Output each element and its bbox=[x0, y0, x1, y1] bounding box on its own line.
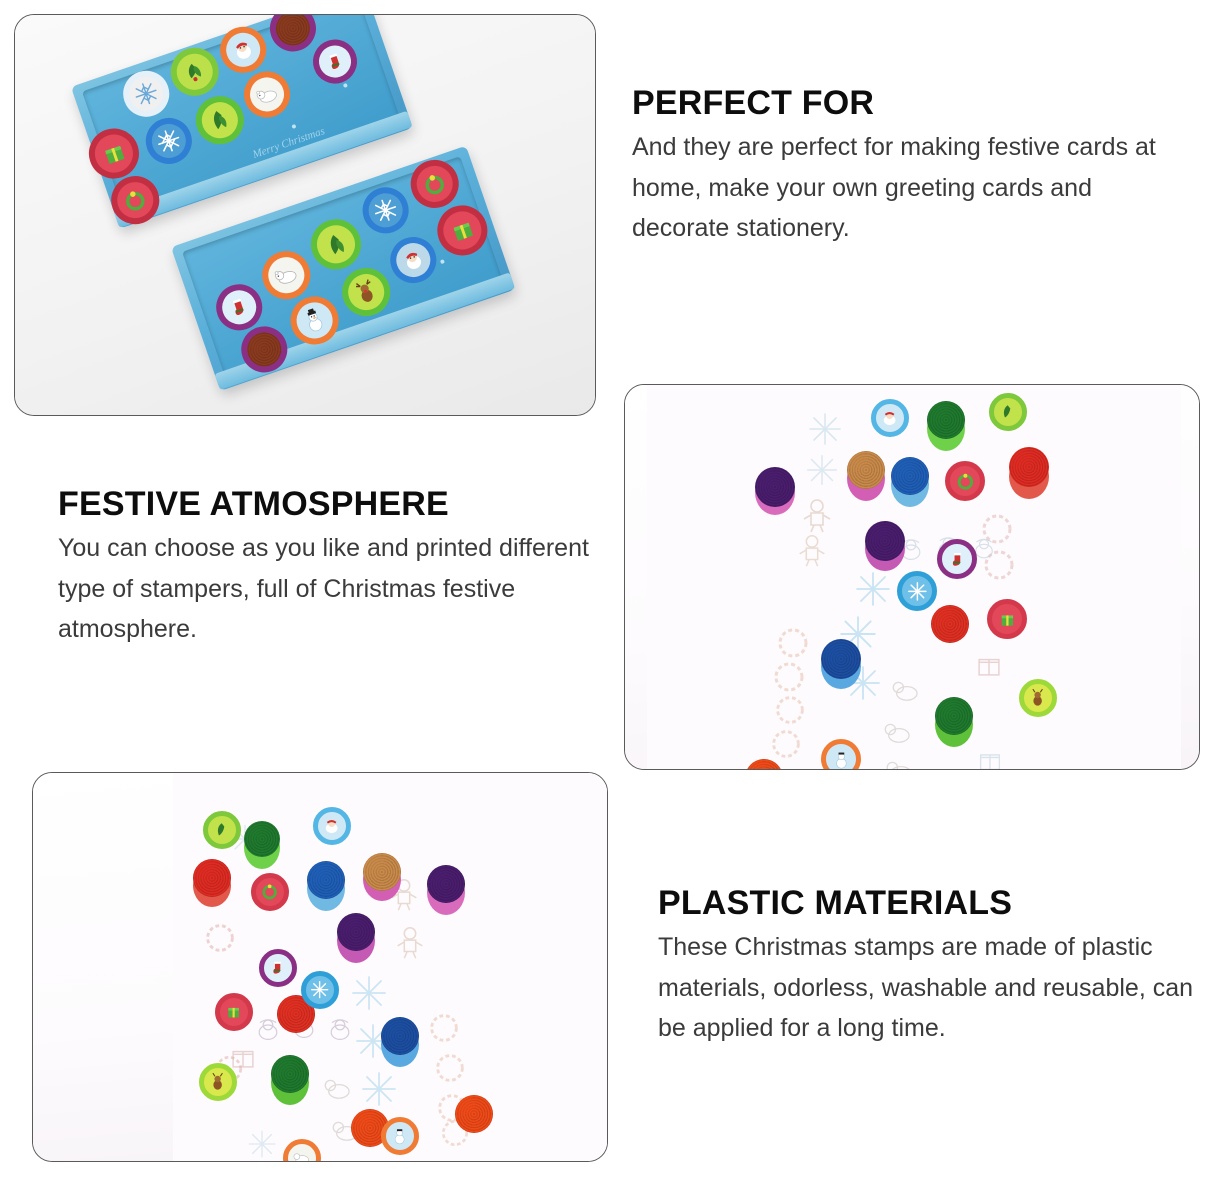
photo-scatter-left-inner bbox=[33, 773, 607, 1161]
snowflake-motif bbox=[152, 125, 185, 158]
stocking-motif bbox=[320, 46, 351, 77]
polar-bear-motif bbox=[291, 1147, 312, 1161]
imprint-snowflake bbox=[359, 1069, 399, 1109]
stamp-pad-gingerbread bbox=[363, 853, 401, 891]
photo-scatter-right-inner bbox=[625, 385, 1199, 769]
body-perfect-for: And they are perfect for making festive … bbox=[632, 127, 1180, 249]
holly-motif bbox=[202, 103, 237, 138]
wreath-motif bbox=[118, 183, 153, 218]
stamp-pad-red bbox=[1009, 447, 1049, 487]
stamp-pad-darkgreen bbox=[244, 821, 280, 857]
body-festive-atmosphere: You can choose as you like and printed d… bbox=[58, 528, 614, 650]
photo-stamp-boxes: Merry Christmas bbox=[14, 14, 596, 416]
imprint-gift bbox=[971, 647, 1007, 683]
santa-motif bbox=[879, 407, 900, 428]
imprint-wreath bbox=[767, 725, 805, 763]
stamp-pad-purple-b bbox=[337, 913, 375, 951]
stamp-pad-purple bbox=[755, 467, 795, 507]
stamp-face-reindeer bbox=[1019, 679, 1057, 717]
snowflake-motif bbox=[906, 580, 929, 603]
stamp-pad-blue bbox=[891, 457, 929, 495]
santa-motif bbox=[227, 33, 260, 66]
stamp-face-wreath bbox=[251, 873, 289, 911]
stamp-pad-red bbox=[193, 859, 231, 897]
santa-motif bbox=[321, 815, 342, 836]
polar-bear-motif bbox=[251, 78, 284, 111]
stamp-face-stocking bbox=[259, 949, 297, 987]
imprint-snowflake bbox=[349, 973, 389, 1013]
text-block-festive-atmosphere: FESTIVE ATMOSPHERE You can choose as you… bbox=[58, 487, 614, 650]
stamp-face-gift bbox=[215, 993, 253, 1031]
stamp-face-santa bbox=[871, 399, 909, 437]
gift-box-motif bbox=[96, 135, 133, 172]
stamp-pad-purple bbox=[865, 521, 905, 561]
stamp-face-snowflake bbox=[897, 571, 937, 611]
imprint-gingerbread bbox=[793, 531, 831, 569]
stamp-face-wreath bbox=[945, 461, 985, 501]
stocking-motif bbox=[946, 548, 969, 571]
heading-plastic-materials: PLASTIC MATERIALS bbox=[658, 886, 1206, 921]
stamp-face-snowflake bbox=[301, 971, 339, 1009]
stamp-pad-blue bbox=[307, 861, 345, 899]
holly-motif bbox=[211, 819, 232, 840]
polar-bear-motif bbox=[269, 258, 304, 293]
stamp-pad-navy bbox=[821, 639, 861, 679]
snowman-motif bbox=[389, 1125, 410, 1146]
snowman-motif bbox=[830, 748, 853, 769]
imprint-snowflake bbox=[853, 569, 893, 609]
snowflake-motif bbox=[369, 194, 402, 227]
stamp-pad-darkgreen-b bbox=[271, 1055, 309, 1093]
photo-boxes-inner: Merry Christmas bbox=[15, 15, 595, 415]
stamp-face-reindeer bbox=[199, 1063, 237, 1101]
heading-festive-atmosphere: FESTIVE ATMOSPHERE bbox=[58, 487, 614, 522]
stamp-pad-darkgreen-b bbox=[935, 697, 973, 735]
imprint-wreath bbox=[201, 919, 239, 957]
stamp-face-holly bbox=[203, 811, 241, 849]
stamp-pad-darkgreen bbox=[927, 401, 965, 439]
heading-perfect-for: PERFECT FOR bbox=[632, 86, 1180, 121]
wreath-motif bbox=[417, 167, 452, 202]
imprint-polarbear bbox=[881, 715, 915, 749]
gift-box-motif bbox=[444, 212, 481, 249]
wreath-motif bbox=[259, 881, 280, 902]
text-block-plastic-materials: PLASTIC MATERIALS These Christmas stamps… bbox=[658, 886, 1206, 1049]
stamp-face-snowman bbox=[381, 1117, 419, 1155]
holly-motif bbox=[997, 401, 1018, 422]
stocking-motif bbox=[267, 957, 288, 978]
wreath-motif bbox=[954, 470, 977, 493]
stamp-pad-orange-b bbox=[455, 1095, 493, 1133]
stamp-face-holly bbox=[989, 393, 1027, 431]
gift-box-motif bbox=[223, 1001, 244, 1022]
snowflake-motif bbox=[130, 77, 163, 110]
snowflake-motif bbox=[309, 979, 330, 1000]
imprint-wreath bbox=[425, 1009, 463, 1047]
imprint-gift bbox=[973, 743, 1007, 769]
body-plastic-materials: These Christmas stamps are made of plast… bbox=[658, 927, 1206, 1049]
reindeer-motif bbox=[349, 275, 384, 310]
imprint-gingerbread bbox=[797, 495, 837, 535]
infographic-page: Merry Christmas bbox=[0, 0, 1211, 1182]
imprint-santa-row bbox=[323, 1013, 357, 1045]
imprint-polarbear bbox=[889, 673, 923, 707]
stamp-face-santa bbox=[313, 807, 351, 845]
imprint-snowflake bbox=[805, 409, 845, 449]
photo-stamps-scattered-right bbox=[624, 384, 1200, 770]
stamp-pad-purple bbox=[427, 865, 465, 903]
holly-motif bbox=[177, 54, 212, 89]
santa-motif bbox=[397, 244, 430, 277]
imprint-polarbear bbox=[321, 1071, 355, 1105]
gift-box-motif bbox=[996, 608, 1019, 631]
text-block-perfect-for: PERFECT FOR And they are perfect for mak… bbox=[632, 86, 1180, 249]
stamp-pad-red-b bbox=[931, 605, 969, 643]
holly-motif bbox=[318, 226, 355, 263]
imprint-gingerbread bbox=[391, 923, 429, 961]
imprint-wreath bbox=[771, 691, 809, 729]
imprint-wreath bbox=[431, 1049, 469, 1087]
imprint-polarbear bbox=[883, 753, 917, 769]
imprint-snowflake bbox=[803, 451, 841, 489]
imprint-snowflake bbox=[245, 1127, 279, 1161]
photo-stamps-scattered-left bbox=[32, 772, 608, 1162]
snowman-motif bbox=[297, 303, 332, 338]
stamp-face-stocking bbox=[937, 539, 977, 579]
reindeer-motif bbox=[207, 1071, 228, 1092]
stocking-motif bbox=[223, 291, 256, 324]
reindeer-motif bbox=[1027, 687, 1048, 708]
stamp-pad-navy bbox=[381, 1017, 419, 1055]
stamp-face-gift bbox=[987, 599, 1027, 639]
stamp-pad-gingerbread bbox=[847, 451, 885, 489]
